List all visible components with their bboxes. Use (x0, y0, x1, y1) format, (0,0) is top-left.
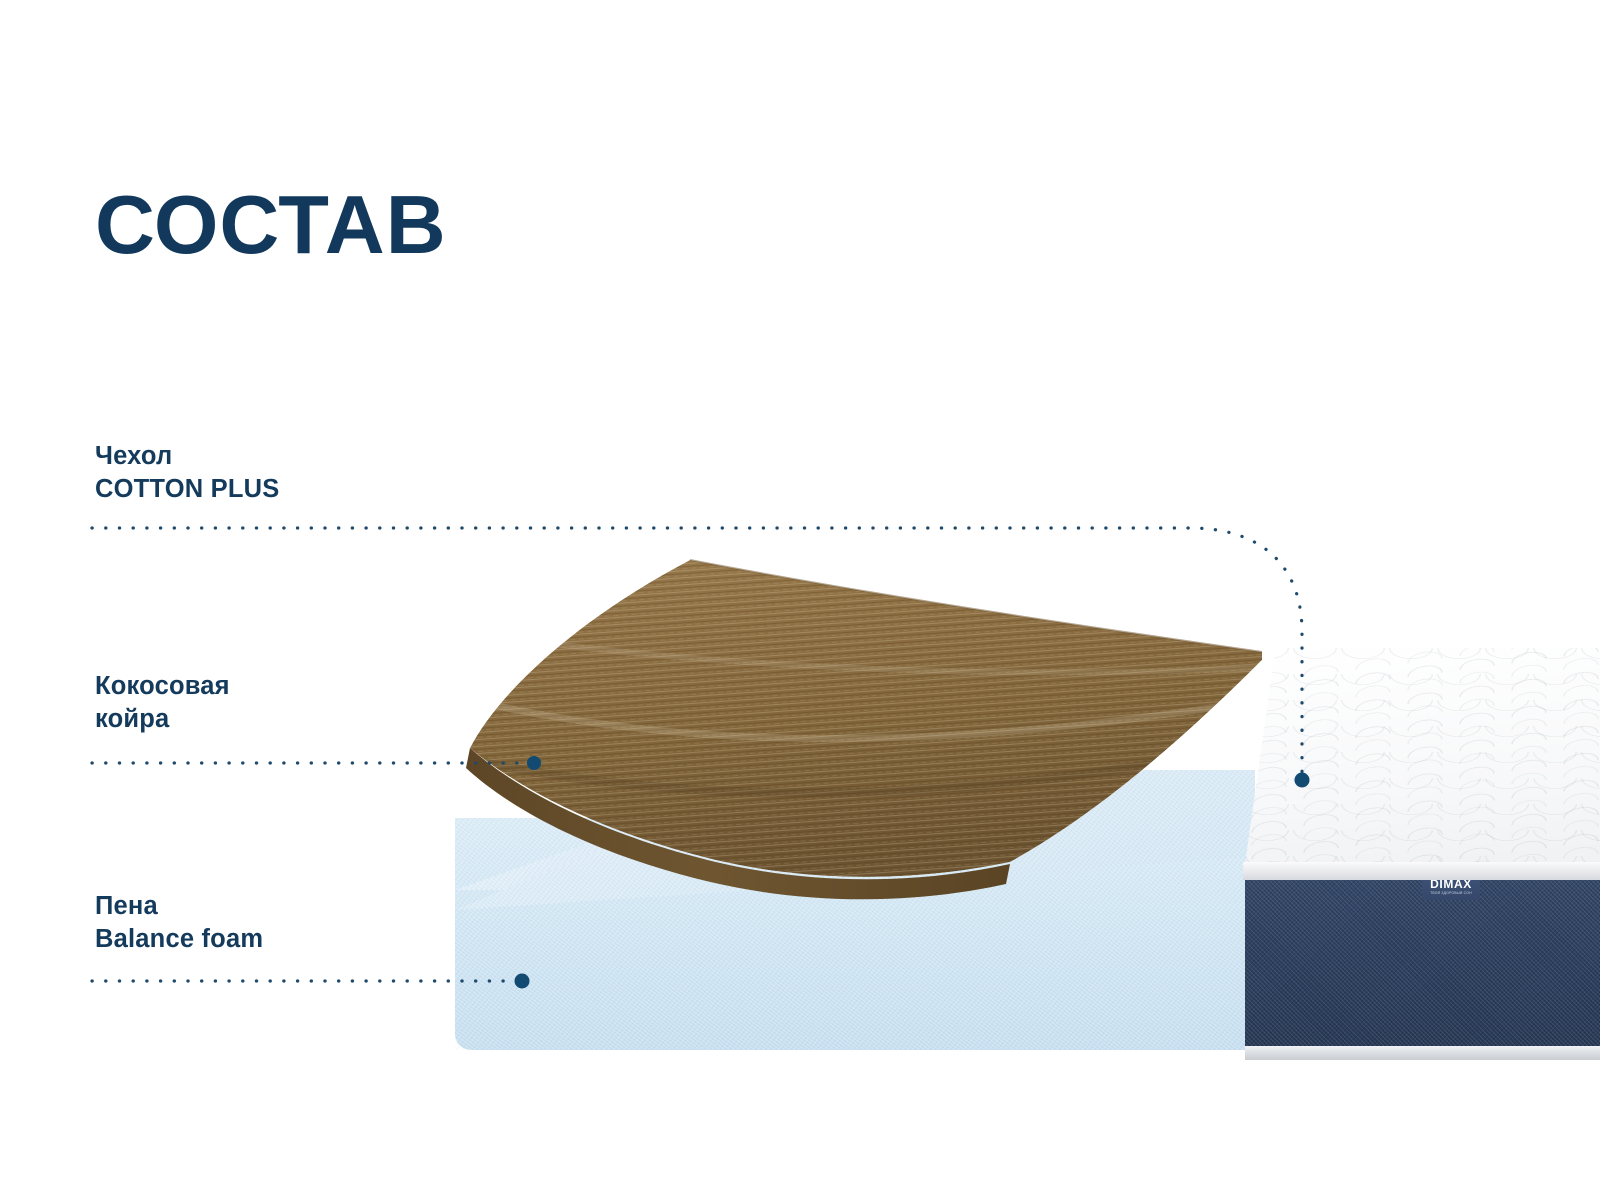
callout-cover-line1: Чехол (95, 440, 280, 473)
callout-foam-line1: Пена (95, 890, 263, 923)
callout-cover: Чехол COTTON PLUS (95, 440, 280, 505)
mattress-illustration: DIMAX ТВОЙ ЗДОРОВЫЙ СОН (0, 0, 1600, 1201)
infographic-canvas: СОСТАВ DIMAX ТВОЙ ЗДОРОВЫЙ СОН (0, 0, 1600, 1201)
callout-coir: Кокосовая койра (95, 670, 230, 735)
callout-foam: Пена Balance foam (95, 890, 263, 955)
callout-foam-line2: Balance foam (95, 923, 263, 956)
callout-coir-line1: Кокосовая (95, 670, 230, 703)
callout-cover-line2: COTTON PLUS (95, 473, 280, 506)
mattress-piping (1245, 1046, 1600, 1060)
brand-tagline: ТВОЙ ЗДОРОВЫЙ СОН (1430, 892, 1472, 895)
brand-name: DIMAX (1430, 878, 1472, 890)
callout-coir-line2: койра (95, 703, 230, 736)
